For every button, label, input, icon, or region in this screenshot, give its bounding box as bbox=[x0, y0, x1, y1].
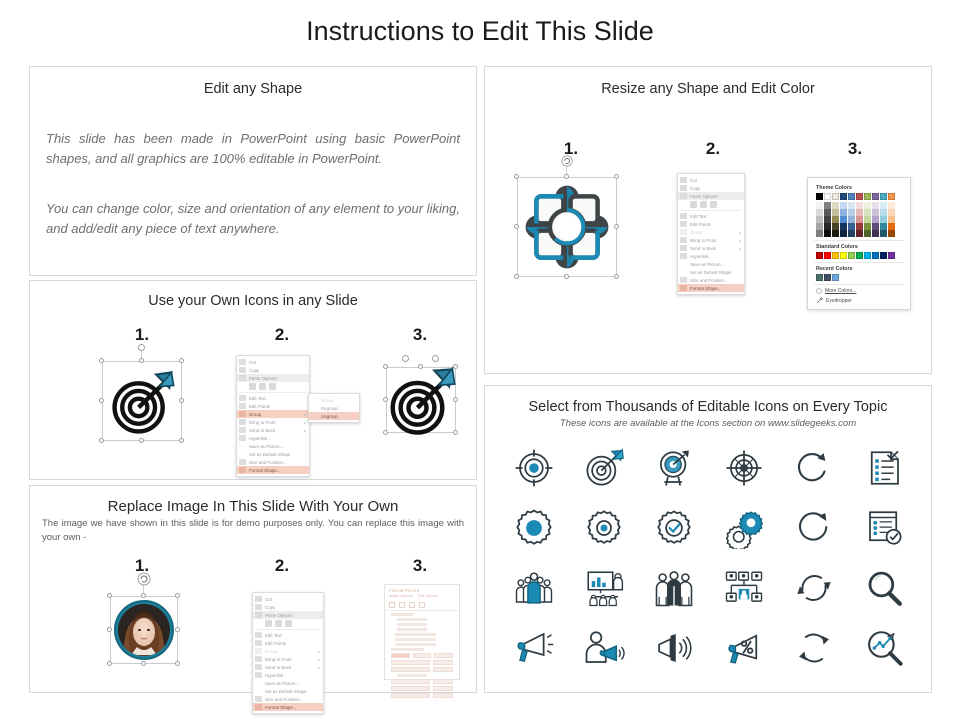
submenu-arrow-icon: ▸ bbox=[318, 649, 320, 654]
context-menu-item-label: Bring to Front bbox=[690, 238, 736, 243]
theme-color-swatch[interactable] bbox=[824, 193, 831, 200]
fill-icon[interactable] bbox=[389, 602, 395, 608]
context-menu-item[interactable]: Edit Text bbox=[678, 212, 744, 220]
theme-tint-swatch[interactable] bbox=[872, 209, 879, 216]
menu-item-spacer bbox=[239, 443, 246, 449]
context-menu-item[interactable]: Send to Back▸ bbox=[237, 426, 309, 434]
effects-icon[interactable] bbox=[399, 602, 405, 608]
resize-handle-nw[interactable] bbox=[107, 593, 112, 598]
context-menu-item[interactable]: Edit Points bbox=[678, 220, 744, 228]
paste-icon bbox=[255, 612, 262, 618]
context-menu-item[interactable]: Ungroup bbox=[309, 412, 359, 420]
theme-colors-row[interactable] bbox=[816, 193, 904, 200]
context-menu-item[interactable]: Cut bbox=[253, 595, 323, 603]
team-three-icon[interactable] bbox=[651, 565, 697, 611]
slide-canvas: Instructions to Edit This Slide Edit any… bbox=[0, 0, 960, 720]
context-menu-item[interactable]: Edit Points bbox=[253, 639, 323, 647]
context-menu-item[interactable]: Group bbox=[309, 396, 359, 404]
context-menu-item[interactable]: Copy bbox=[253, 603, 323, 611]
context-menu-item-label: Paste Options: bbox=[265, 613, 320, 618]
resize-handle-nw[interactable] bbox=[514, 174, 519, 179]
theme-tint-swatch[interactable] bbox=[840, 216, 847, 223]
context-menu-item-label: Cut bbox=[249, 360, 306, 365]
theme-tint-column[interactable] bbox=[864, 202, 871, 237]
pane-row bbox=[395, 633, 436, 636]
paste-options-icons[interactable] bbox=[237, 382, 309, 391]
theme-tint-column[interactable] bbox=[872, 202, 879, 237]
theme-tint-swatch[interactable] bbox=[848, 209, 855, 216]
resize-handle-se[interactable] bbox=[175, 661, 180, 666]
context-menu-item[interactable]: Edit Points bbox=[237, 402, 309, 410]
resize-handle-sw[interactable] bbox=[107, 661, 112, 666]
context-menu-item[interactable]: Cut bbox=[678, 176, 744, 184]
theme-tint-column[interactable] bbox=[888, 202, 895, 237]
standard-color-swatch[interactable] bbox=[888, 252, 895, 259]
resize-handle-w[interactable] bbox=[107, 627, 112, 632]
theme-tint-column[interactable] bbox=[856, 202, 863, 237]
context-menu-item[interactable]: Save as Picture... bbox=[678, 260, 744, 268]
paste-picture-icon[interactable] bbox=[275, 620, 282, 627]
bring-front-icon bbox=[255, 656, 262, 662]
theme-tint-swatch[interactable] bbox=[832, 209, 839, 216]
paste-picture-icon[interactable] bbox=[259, 383, 266, 390]
resize-handle-s[interactable] bbox=[564, 274, 569, 279]
sync-arrows-icon[interactable] bbox=[791, 565, 837, 611]
theme-tint-swatch[interactable] bbox=[880, 209, 887, 216]
resize-handle-e[interactable] bbox=[614, 224, 619, 229]
pane-row bbox=[395, 638, 436, 641]
context-menu-item[interactable]: Edit Text bbox=[253, 631, 323, 639]
theme-tint-swatch[interactable] bbox=[872, 230, 879, 237]
context-menu-item[interactable]: Format Shape... bbox=[253, 703, 323, 711]
quad-shape-icon bbox=[522, 182, 612, 272]
resize-handle-n[interactable] bbox=[141, 593, 146, 598]
recent-color-swatch[interactable] bbox=[816, 274, 823, 281]
org-chart-icon[interactable] bbox=[721, 565, 767, 611]
theme-tint-swatch[interactable] bbox=[864, 223, 871, 230]
standard-colors-row[interactable] bbox=[816, 252, 904, 259]
submenu-arrow-icon: ▸ bbox=[739, 238, 741, 243]
people-group-icon[interactable] bbox=[511, 565, 557, 611]
context-menu-item[interactable]: Copy bbox=[237, 366, 309, 374]
theme-color-swatch[interactable] bbox=[840, 193, 847, 200]
standard-color-swatch[interactable] bbox=[840, 252, 847, 259]
circular-arrows-icon[interactable] bbox=[791, 625, 837, 671]
rotate-handle[interactable] bbox=[138, 344, 145, 351]
send-back-icon bbox=[255, 664, 262, 670]
context-menu-item[interactable]: Regroup bbox=[309, 404, 359, 412]
context-menu-picture[interactable]: CutCopyPaste Options:Edit TextEdit Point… bbox=[252, 592, 324, 714]
context-menu-item[interactable]: Set as Default Shape bbox=[237, 450, 309, 458]
context-menu-item-label: Save as Picture... bbox=[265, 681, 320, 686]
format-pane-tab-text[interactable]: Text Options bbox=[418, 594, 438, 598]
context-menu-item-label: Cut bbox=[265, 597, 320, 602]
theme-tint-swatch[interactable] bbox=[840, 202, 847, 209]
speaker-icon[interactable] bbox=[651, 625, 697, 671]
theme-tint-swatch[interactable] bbox=[840, 230, 847, 237]
theme-color-swatch[interactable] bbox=[832, 193, 839, 200]
context-menu-item[interactable]: Group▸ bbox=[237, 410, 309, 418]
theme-tint-swatch[interactable] bbox=[832, 223, 839, 230]
circular-arrow-icon[interactable] bbox=[791, 505, 837, 551]
magnifier-chart-icon[interactable] bbox=[861, 625, 907, 671]
context-menu-item[interactable]: Cut bbox=[237, 358, 309, 366]
context-menu-item-label: Size and Position... bbox=[690, 278, 741, 283]
rotate-handle-icon[interactable] bbox=[561, 155, 573, 167]
context-menu-item[interactable]: Hyperlink... bbox=[253, 671, 323, 679]
theme-tint-swatch[interactable] bbox=[880, 223, 887, 230]
panel-title-replace-image: Replace Image In This Slide With Your Ow… bbox=[30, 498, 476, 515]
own-icons-step-3-graphic bbox=[380, 359, 462, 441]
theme-tint-swatch[interactable] bbox=[824, 202, 831, 209]
context-menu-item-label: Size and Position... bbox=[249, 460, 306, 465]
pane-field-row[interactable] bbox=[391, 686, 453, 691]
theme-tint-column[interactable] bbox=[816, 202, 823, 237]
resize-handle-e[interactable] bbox=[175, 627, 180, 632]
theme-tint-swatch[interactable] bbox=[816, 216, 823, 223]
context-menu-item[interactable]: Paste Options: bbox=[253, 611, 323, 619]
resize-handle-ne[interactable] bbox=[175, 593, 180, 598]
panel-replace-image: Replace Image In This Slide With Your Ow… bbox=[29, 485, 477, 693]
context-menu-item-label: Edit Points bbox=[690, 222, 741, 227]
context-menu-item[interactable]: Send to Back▸ bbox=[253, 663, 323, 671]
resize-handle-se[interactable] bbox=[614, 274, 619, 279]
resize-step-3-number: 3. bbox=[825, 139, 885, 159]
picture-icon[interactable] bbox=[419, 602, 425, 608]
resize-handle-se[interactable] bbox=[179, 438, 184, 443]
hyperlink-icon bbox=[680, 253, 687, 259]
checklist-document-icon[interactable] bbox=[861, 445, 907, 491]
theme-tint-swatch[interactable] bbox=[824, 216, 831, 223]
submenu-arrow-icon: ▸ bbox=[318, 665, 320, 670]
standard-color-swatch[interactable] bbox=[848, 252, 855, 259]
hyperlink-icon bbox=[239, 435, 246, 441]
context-menu-item[interactable]: Bring to Front▸ bbox=[253, 655, 323, 663]
theme-tint-swatch[interactable] bbox=[880, 202, 887, 209]
theme-tint-swatch[interactable] bbox=[880, 216, 887, 223]
theme-tint-swatch[interactable] bbox=[888, 223, 895, 230]
context-menu-item-label: Format Shape... bbox=[265, 705, 320, 710]
size-position-icon bbox=[680, 277, 687, 283]
context-menu-item[interactable]: Set as Default Shape bbox=[253, 687, 323, 695]
paste-picture-icon[interactable] bbox=[700, 201, 707, 208]
theme-tint-swatch[interactable] bbox=[856, 202, 863, 209]
context-menu-item[interactable]: Group▸ bbox=[678, 228, 744, 236]
edit-text-icon bbox=[239, 395, 246, 401]
resize-handle-nw[interactable] bbox=[99, 358, 104, 363]
standard-colors-label: Standard Colors bbox=[816, 244, 904, 250]
paste-keep-format-icon[interactable] bbox=[690, 201, 697, 208]
format-picture-pane[interactable]: Format Picture Shape Options Text Option… bbox=[384, 584, 460, 680]
resize-handle-s[interactable] bbox=[141, 661, 146, 666]
edit-shape-paragraph-1: This slide has been made in PowerPoint u… bbox=[46, 129, 460, 169]
submenu-arrow-icon: ▸ bbox=[304, 420, 306, 425]
resize-handle-ne[interactable] bbox=[614, 174, 619, 179]
context-menu-item[interactable]: Paste Options: bbox=[678, 192, 744, 200]
theme-tint-swatch[interactable] bbox=[848, 202, 855, 209]
presentation-meeting-icon[interactable] bbox=[581, 565, 627, 611]
theme-color-swatch[interactable] bbox=[888, 193, 895, 200]
pane-button[interactable] bbox=[391, 653, 410, 658]
size-position-icon bbox=[255, 696, 262, 702]
color-picker-dropdown[interactable]: Theme Colors Standard Colors Recent Colo… bbox=[807, 177, 911, 310]
theme-tint-swatch[interactable] bbox=[880, 230, 887, 237]
own-icons-step-2-number: 2. bbox=[252, 325, 312, 345]
theme-tint-column[interactable] bbox=[848, 202, 855, 237]
theme-color-swatch[interactable] bbox=[848, 193, 855, 200]
paste-text-icon[interactable] bbox=[269, 383, 276, 390]
crosshair-target-icon[interactable] bbox=[721, 445, 767, 491]
paste-text-icon[interactable] bbox=[710, 201, 717, 208]
pane-field-row[interactable] bbox=[391, 679, 453, 684]
theme-tint-swatch[interactable] bbox=[888, 230, 895, 237]
resize-handle-n[interactable] bbox=[564, 174, 569, 179]
menu-item-spacer bbox=[311, 413, 318, 419]
hyperlink-icon bbox=[255, 672, 262, 678]
theme-tint-swatch[interactable] bbox=[872, 223, 879, 230]
context-menu-item[interactable]: Bring to Front▸ bbox=[237, 418, 309, 426]
more-colors-item[interactable]: More Colors... bbox=[816, 288, 904, 294]
standard-color-swatch[interactable] bbox=[864, 252, 871, 259]
pane-button[interactable] bbox=[413, 653, 432, 658]
resize-handle-s[interactable] bbox=[139, 438, 144, 443]
dartboard-arrow-icon[interactable] bbox=[581, 445, 627, 491]
megaphone-icon[interactable] bbox=[511, 625, 557, 671]
theme-tint-swatch[interactable] bbox=[824, 209, 831, 216]
theme-tint-swatch[interactable] bbox=[888, 216, 895, 223]
context-menu-item-label: Edit Text bbox=[265, 633, 320, 638]
gear-outline-icon[interactable] bbox=[581, 505, 627, 551]
paste-keep-format-icon[interactable] bbox=[265, 620, 272, 627]
more-colors-label: More Colors... bbox=[825, 288, 856, 294]
submenu-arrow-icon: ▸ bbox=[739, 246, 741, 251]
menu-item-spacer bbox=[311, 397, 318, 403]
context-menu-item-label: Copy bbox=[265, 605, 320, 610]
eyedropper-icon bbox=[816, 297, 823, 304]
panel-title-resize-shape: Resize any Shape and Edit Color bbox=[485, 81, 931, 97]
theme-color-swatch[interactable] bbox=[872, 193, 879, 200]
format-pane-tab-shape[interactable]: Shape Options bbox=[389, 594, 413, 598]
rotate-handle-2[interactable] bbox=[432, 355, 439, 362]
theme-color-swatch[interactable] bbox=[816, 193, 823, 200]
context-menu-item[interactable]: Paste Options: bbox=[237, 374, 309, 382]
theme-tint-swatch[interactable] bbox=[832, 216, 839, 223]
submenu-arrow-icon: ▸ bbox=[739, 230, 741, 235]
theme-tint-swatch[interactable] bbox=[856, 209, 863, 216]
resize-handle-e[interactable] bbox=[179, 398, 184, 403]
context-menu-item-label: Send to Back bbox=[249, 428, 301, 433]
panel-title-own-icons: Use your Own Icons in any Slide bbox=[30, 293, 476, 309]
pane-field-row[interactable] bbox=[391, 660, 453, 665]
resize-handle-w[interactable] bbox=[514, 224, 519, 229]
theme-tint-swatch[interactable] bbox=[888, 209, 895, 216]
pane-row bbox=[397, 628, 427, 631]
pane-row bbox=[395, 643, 436, 646]
theme-tint-column[interactable] bbox=[832, 202, 839, 237]
group-icon bbox=[680, 229, 687, 235]
resize-handle-ne[interactable] bbox=[179, 358, 184, 363]
theme-tint-swatch[interactable] bbox=[856, 230, 863, 237]
gears-pair-icon[interactable] bbox=[721, 505, 767, 551]
context-menu-item[interactable]: Bring to Front▸ bbox=[678, 236, 744, 244]
context-menu-shape[interactable]: CutCopyPaste Options:Edit TextEdit Point… bbox=[677, 173, 745, 295]
context-menu-item-label: Set as Default Shape bbox=[265, 689, 320, 694]
theme-tint-swatch[interactable] bbox=[848, 216, 855, 223]
context-menu-item[interactable]: Save as Picture... bbox=[253, 679, 323, 687]
context-menu-item[interactable]: Size and Position... bbox=[253, 695, 323, 703]
submenu-arrow-icon: ▸ bbox=[318, 657, 320, 662]
cut-icon bbox=[680, 177, 687, 183]
standard-color-swatch[interactable] bbox=[880, 252, 887, 259]
format-pane-icon-row[interactable] bbox=[385, 600, 459, 611]
context-menu-item-label: Hyperlink... bbox=[265, 673, 320, 678]
context-menu-item-label: Size and Position... bbox=[265, 697, 320, 702]
recent-color-swatch[interactable] bbox=[832, 274, 839, 281]
dartboard-arrow-icon bbox=[108, 368, 178, 438]
pane-button[interactable] bbox=[434, 653, 453, 658]
paste-options-icons[interactable] bbox=[253, 619, 323, 628]
magnifier-icon[interactable] bbox=[861, 565, 907, 611]
context-menu[interactable]: CutCopyPaste Options:Edit TextEdit Point… bbox=[236, 355, 310, 477]
context-menu-item-label: Paste Options: bbox=[249, 376, 306, 381]
theme-tint-swatch[interactable] bbox=[816, 202, 823, 209]
context-menu-item-label: Hyperlink... bbox=[690, 254, 741, 259]
context-menu-item-label: Edit Text bbox=[249, 396, 306, 401]
theme-tint-swatch[interactable] bbox=[864, 216, 871, 223]
eyedropper-item[interactable]: Eyedropper bbox=[816, 297, 904, 304]
replace-image-step-3-number: 3. bbox=[390, 556, 450, 576]
context-menu-item[interactable]: Hyperlink... bbox=[678, 252, 744, 260]
theme-tint-swatch[interactable] bbox=[840, 223, 847, 230]
theme-tint-swatch[interactable] bbox=[864, 230, 871, 237]
context-menu-item[interactable]: Group▸ bbox=[253, 647, 323, 655]
theme-tint-swatch[interactable] bbox=[888, 202, 895, 209]
theme-tint-swatch[interactable] bbox=[864, 202, 871, 209]
resize-handle-w[interactable] bbox=[99, 398, 104, 403]
rotate-handle-icon[interactable] bbox=[137, 572, 151, 586]
page-title: Instructions to Edit This Slide bbox=[0, 16, 960, 47]
context-menu-item-label: Send to Back bbox=[690, 246, 736, 251]
theme-color-swatch[interactable] bbox=[880, 193, 887, 200]
theme-tint-column[interactable] bbox=[840, 202, 847, 237]
dartboard-arrow-icon bbox=[386, 365, 458, 437]
theme-tint-swatch[interactable] bbox=[824, 230, 831, 237]
context-menu-item[interactable]: Edit Text bbox=[237, 394, 309, 402]
checklist-approved-icon[interactable] bbox=[861, 505, 907, 551]
standard-color-swatch[interactable] bbox=[824, 252, 831, 259]
rotate-handle[interactable] bbox=[402, 355, 409, 362]
context-menu-item-label: Save as Picture... bbox=[249, 444, 306, 449]
target-stand-icon[interactable] bbox=[651, 445, 697, 491]
standard-color-swatch[interactable] bbox=[832, 252, 839, 259]
context-menu-item[interactable]: Size and Position... bbox=[237, 458, 309, 466]
recent-colors-row[interactable] bbox=[816, 274, 904, 281]
theme-tint-swatch[interactable] bbox=[840, 209, 847, 216]
theme-tint-swatch[interactable] bbox=[856, 216, 863, 223]
theme-tint-swatch[interactable] bbox=[872, 202, 879, 209]
theme-tint-column[interactable] bbox=[824, 202, 831, 237]
theme-tint-swatch[interactable] bbox=[848, 230, 855, 237]
resize-handle-sw[interactable] bbox=[514, 274, 519, 279]
paste-text-icon[interactable] bbox=[285, 620, 292, 627]
menu-item-spacer bbox=[255, 680, 262, 686]
group-submenu[interactable]: GroupRegroupUngroup bbox=[308, 393, 360, 423]
pane-field-row[interactable] bbox=[391, 667, 453, 672]
resize-handle-n[interactable] bbox=[139, 358, 144, 363]
resize-step-1-graphic bbox=[517, 177, 617, 277]
theme-tint-swatch[interactable] bbox=[832, 230, 839, 237]
theme-colors-tints-grid[interactable] bbox=[816, 202, 904, 237]
theme-tint-swatch[interactable] bbox=[816, 230, 823, 237]
gear-check-icon[interactable] bbox=[651, 505, 697, 551]
recent-colors-label: Recent Colors bbox=[816, 266, 904, 272]
context-menu-item[interactable]: Copy bbox=[678, 184, 744, 192]
theme-tint-swatch[interactable] bbox=[864, 209, 871, 216]
context-menu-item-label: Group bbox=[321, 398, 356, 403]
theme-tint-swatch[interactable] bbox=[824, 223, 831, 230]
menu-item-spacer bbox=[680, 261, 687, 267]
copy-icon bbox=[680, 185, 687, 191]
context-menu-item[interactable]: Format Shape... bbox=[678, 284, 744, 292]
size-position-icon bbox=[239, 459, 246, 465]
megaphone-percent-icon[interactable] bbox=[721, 625, 767, 671]
gear-solid-icon[interactable] bbox=[511, 505, 557, 551]
edit-points-icon bbox=[680, 221, 687, 227]
standard-color-swatch[interactable] bbox=[816, 252, 823, 259]
context-menu-item[interactable]: Send to Back▸ bbox=[678, 244, 744, 252]
size-icon[interactable] bbox=[409, 602, 415, 608]
context-menu-item-label: Send to Back bbox=[265, 665, 315, 670]
group-icon bbox=[255, 648, 262, 654]
standard-color-swatch[interactable] bbox=[856, 252, 863, 259]
person-megaphone-icon[interactable] bbox=[581, 625, 627, 671]
context-menu-item-label: Copy bbox=[690, 186, 741, 191]
theme-color-swatch[interactable] bbox=[864, 193, 871, 200]
refresh-arrow-icon[interactable] bbox=[791, 445, 837, 491]
pane-button-row[interactable] bbox=[391, 653, 453, 658]
paste-keep-format-icon[interactable] bbox=[249, 383, 256, 390]
theme-tint-swatch[interactable] bbox=[856, 223, 863, 230]
bring-front-icon bbox=[680, 237, 687, 243]
pane-field-row[interactable] bbox=[391, 693, 453, 698]
theme-tint-swatch[interactable] bbox=[832, 202, 839, 209]
replace-image-description: The image we have shown in this slide is… bbox=[42, 517, 464, 546]
context-menu-item[interactable]: Set as Default Shape bbox=[678, 268, 744, 276]
theme-tint-swatch[interactable] bbox=[848, 223, 855, 230]
context-menu-item[interactable]: Format Shape... bbox=[237, 466, 309, 474]
standard-color-swatch[interactable] bbox=[872, 252, 879, 259]
theme-tint-swatch[interactable] bbox=[816, 223, 823, 230]
copy-icon bbox=[255, 604, 262, 610]
context-menu-item-label: Group bbox=[690, 230, 736, 235]
paste-options-icons[interactable] bbox=[678, 200, 744, 209]
recent-color-swatch[interactable] bbox=[824, 274, 831, 281]
theme-tint-swatch[interactable] bbox=[872, 216, 879, 223]
target-crosshair-icon[interactable] bbox=[511, 445, 557, 491]
menu-item-spacer bbox=[239, 451, 246, 457]
context-menu-item[interactable]: Hyperlink... bbox=[237, 434, 309, 442]
theme-tint-column[interactable] bbox=[880, 202, 887, 237]
resize-handle-sw[interactable] bbox=[99, 438, 104, 443]
send-back-icon bbox=[680, 245, 687, 251]
paste-icon bbox=[239, 375, 246, 381]
panel-use-own-icons: Use your Own Icons in any Slide 1. 2. 3. bbox=[29, 280, 477, 480]
context-menu-item-label: Set as Default Shape bbox=[690, 270, 741, 275]
context-menu-item[interactable]: Size and Position... bbox=[678, 276, 744, 284]
context-menu-item[interactable]: Save as Picture... bbox=[237, 442, 309, 450]
theme-color-swatch[interactable] bbox=[856, 193, 863, 200]
theme-tint-swatch[interactable] bbox=[816, 209, 823, 216]
